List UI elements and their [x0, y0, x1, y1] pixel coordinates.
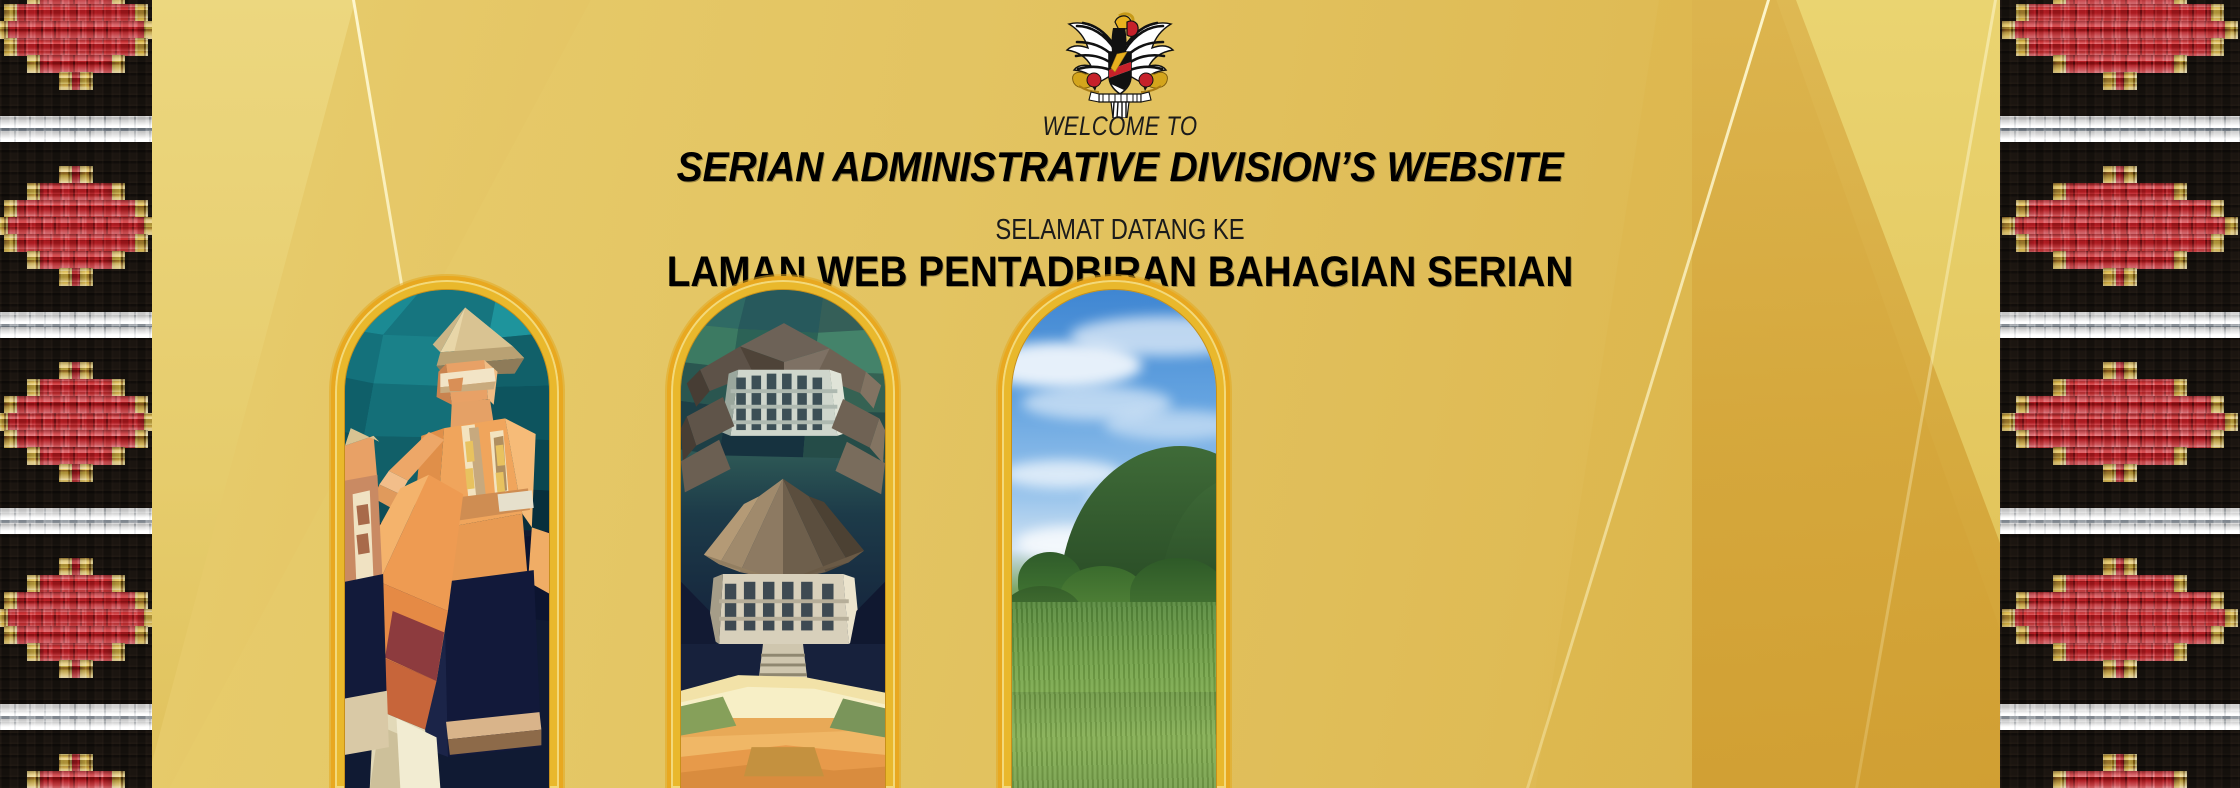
title-en-text: SERIAN ADMINISTRATIVE DIVISION’S WEBSITE: [78, 145, 2161, 189]
bead-diamond-red: [6, 609, 146, 627]
bead-accent-gold: [2211, 592, 2224, 610]
bead-accent-gold: [2225, 413, 2238, 431]
bead-diamond-red: [70, 72, 82, 90]
bead-accent-gold: [2211, 626, 2224, 644]
bead-accent-gold: [4, 592, 17, 610]
bead-accent-gold: [112, 379, 125, 397]
welcome-my-text: SELAMAT DATANG KE: [202, 215, 2039, 245]
bead-band-separator: [2000, 520, 2240, 523]
bead-accent-gold: [2016, 592, 2029, 610]
bead-accent-gold: [2103, 72, 2116, 90]
bead-accent-gold: [59, 362, 72, 380]
bead-diamond-red: [15, 430, 138, 448]
bead-diamond-red: [2027, 626, 2214, 644]
bead-accent-gold: [27, 0, 40, 5]
bead-accent-gold: [112, 447, 125, 465]
gallery-arch-building-frame: [680, 289, 886, 788]
bead-accent-gold: [2053, 447, 2066, 465]
bead-accent-gold: [2124, 754, 2137, 772]
bead-accent-gold: [2211, 396, 2224, 414]
bead-accent-gold: [4, 38, 17, 56]
bead-accent-gold: [80, 72, 93, 90]
administrative-building-image: [681, 290, 885, 788]
bead-accent-gold: [0, 413, 8, 431]
bead-accent-gold: [2016, 430, 2029, 448]
bead-accent-gold: [2053, 575, 2066, 593]
bead-diamond-red: [2027, 396, 2214, 414]
bead-diamond-red: [2064, 447, 2177, 465]
bead-accent-gold: [27, 55, 40, 73]
bead-accent-gold: [2053, 379, 2066, 397]
bead-accent-gold: [2053, 55, 2066, 73]
bead-accent-gold: [27, 575, 40, 593]
bead-accent-gold: [2053, 0, 2066, 5]
bead-accent-gold: [2016, 38, 2029, 56]
bead-diamond-red: [2064, 643, 2177, 661]
bead-diamond-red: [2064, 0, 2177, 5]
bead-diamond-red: [2027, 430, 2214, 448]
gallery-arch-landscape-frame: [1011, 289, 1217, 788]
bead-diamond-red: [15, 4, 138, 22]
bead-diamond-red: [2114, 754, 2126, 772]
sarawak-coat-of-arms-icon: [1055, 8, 1185, 118]
bead-accent-gold: [2124, 660, 2137, 678]
bead-diamond-red: [2114, 464, 2126, 482]
bead-accent-gold: [2225, 21, 2238, 39]
bead-accent-gold: [80, 362, 93, 380]
bead-accent-gold: [27, 447, 40, 465]
bead-diamond-red: [6, 413, 146, 431]
welcome-en-text: WELCOME TO: [202, 112, 2039, 140]
bead-band-separator: [0, 520, 152, 523]
bead-diamond-red: [2027, 592, 2214, 610]
bead-accent-gold: [112, 643, 125, 661]
bead-accent-gold: [135, 396, 148, 414]
bead-accent-gold: [2211, 38, 2224, 56]
bead-band-separator: [2000, 716, 2240, 719]
bead-accent-gold: [2103, 464, 2116, 482]
bead-diamond-red: [38, 0, 114, 5]
bead-accent-gold: [59, 660, 72, 678]
bead-accent-gold: [135, 592, 148, 610]
bead-accent-gold: [135, 38, 148, 56]
bead-accent-gold: [0, 609, 8, 627]
heading-block: WELCOME TO SERIAN ADMINISTRATIVE DIVISIO…: [0, 112, 2240, 295]
bead-diamond-red: [38, 379, 114, 397]
bead-accent-gold: [112, 0, 125, 5]
bead-accent-gold: [80, 754, 93, 772]
bead-diamond-red: [2064, 575, 2177, 593]
bead-accent-gold: [2174, 55, 2187, 73]
bead-accent-gold: [2211, 4, 2224, 22]
bead-accent-gold: [59, 754, 72, 772]
bead-accent-gold: [144, 413, 152, 431]
gallery-arch-building[interactable]: [667, 276, 899, 788]
bead-accent-gold: [135, 430, 148, 448]
bead-accent-gold: [2002, 609, 2015, 627]
bead-diamond-red: [38, 643, 114, 661]
bead-accent-gold: [2124, 464, 2137, 482]
bead-accent-gold: [4, 626, 17, 644]
bead-accent-gold: [80, 464, 93, 482]
bead-diamond-red: [70, 558, 82, 576]
bead-diamond-red: [38, 55, 114, 73]
bead-accent-gold: [2053, 643, 2066, 661]
bead-band-white: [0, 508, 152, 534]
bead-diamond-red: [2114, 558, 2126, 576]
gallery-arch-dancers[interactable]: [331, 276, 563, 788]
bead-diamond-red: [70, 754, 82, 772]
bead-accent-gold: [27, 379, 40, 397]
bead-diamond-red: [6, 21, 146, 39]
bead-accent-gold: [112, 55, 125, 73]
bead-accent-gold: [144, 21, 152, 39]
bead-accent-gold: [112, 771, 125, 788]
bead-diamond-red: [2013, 413, 2227, 431]
welcome-banner: WELCOME TO SERIAN ADMINISTRATIVE DIVISIO…: [0, 0, 2240, 788]
bead-accent-gold: [2174, 643, 2187, 661]
bead-diamond-red: [2114, 660, 2126, 678]
bead-accent-gold: [27, 643, 40, 661]
bead-accent-gold: [2174, 0, 2187, 5]
bead-band-white: [2000, 508, 2240, 534]
bead-accent-gold: [2103, 558, 2116, 576]
bead-accent-gold: [2174, 447, 2187, 465]
bead-band-separator: [2000, 324, 2240, 327]
bead-diamond-red: [70, 660, 82, 678]
bead-accent-gold: [2103, 754, 2116, 772]
bead-diamond-red: [2114, 362, 2126, 380]
landscape-hill-image: [1012, 290, 1216, 788]
bead-accent-gold: [59, 72, 72, 90]
bead-accent-gold: [2211, 430, 2224, 448]
bead-diamond-red: [2013, 609, 2227, 627]
bead-accent-gold: [2016, 4, 2029, 22]
bead-diamond-red: [2013, 21, 2227, 39]
bead-accent-gold: [2103, 362, 2116, 380]
gallery-arch-dancers-frame: [344, 289, 550, 788]
bead-diamond-red: [38, 771, 114, 788]
bead-accent-gold: [80, 660, 93, 678]
bead-diamond-red: [2064, 55, 2177, 73]
bead-diamond-red: [2027, 4, 2214, 22]
bead-band-white: [2000, 312, 2240, 338]
gallery-arch-landscape[interactable]: [998, 276, 1230, 788]
bead-accent-gold: [2103, 660, 2116, 678]
bead-diamond-red: [2064, 379, 2177, 397]
bead-accent-gold: [4, 4, 17, 22]
bead-accent-gold: [2124, 72, 2137, 90]
bead-diamond-red: [2114, 72, 2126, 90]
bead-band-white: [2000, 704, 2240, 730]
bead-band-separator: [0, 324, 152, 327]
cloud-shape: [1104, 410, 1217, 440]
bead-accent-gold: [135, 626, 148, 644]
bead-accent-gold: [2124, 362, 2137, 380]
bead-diamond-red: [38, 447, 114, 465]
bead-accent-gold: [112, 575, 125, 593]
bead-accent-gold: [2124, 558, 2137, 576]
bead-accent-gold: [2016, 396, 2029, 414]
bead-accent-gold: [27, 771, 40, 788]
bead-accent-gold: [2225, 609, 2238, 627]
bead-diamond-red: [2064, 771, 2177, 788]
bead-accent-gold: [4, 396, 17, 414]
bead-accent-gold: [2016, 626, 2029, 644]
bead-diamond-red: [15, 396, 138, 414]
bead-accent-gold: [2174, 771, 2187, 788]
bead-accent-gold: [4, 430, 17, 448]
bead-accent-gold: [2002, 413, 2015, 431]
bead-accent-gold: [2174, 379, 2187, 397]
grassland-shape: [1012, 692, 1216, 788]
bead-diamond-red: [38, 575, 114, 593]
bead-accent-gold: [135, 4, 148, 22]
bead-diamond-red: [15, 38, 138, 56]
traditional-dancers-image: [345, 290, 549, 788]
bead-diamond-red: [70, 362, 82, 380]
bead-accent-gold: [144, 609, 152, 627]
bead-diamond-red: [70, 464, 82, 482]
bead-accent-gold: [59, 558, 72, 576]
bead-band-white: [0, 704, 152, 730]
bead-accent-gold: [80, 558, 93, 576]
bead-accent-gold: [2002, 21, 2015, 39]
bead-accent-gold: [2053, 771, 2066, 788]
bead-diamond-red: [15, 592, 138, 610]
bead-diamond-red: [15, 626, 138, 644]
bead-accent-gold: [59, 464, 72, 482]
bead-accent-gold: [0, 21, 8, 39]
bead-accent-gold: [2174, 575, 2187, 593]
bead-diamond-red: [2027, 38, 2214, 56]
bead-band-white: [0, 312, 152, 338]
bead-band-separator: [0, 716, 152, 719]
